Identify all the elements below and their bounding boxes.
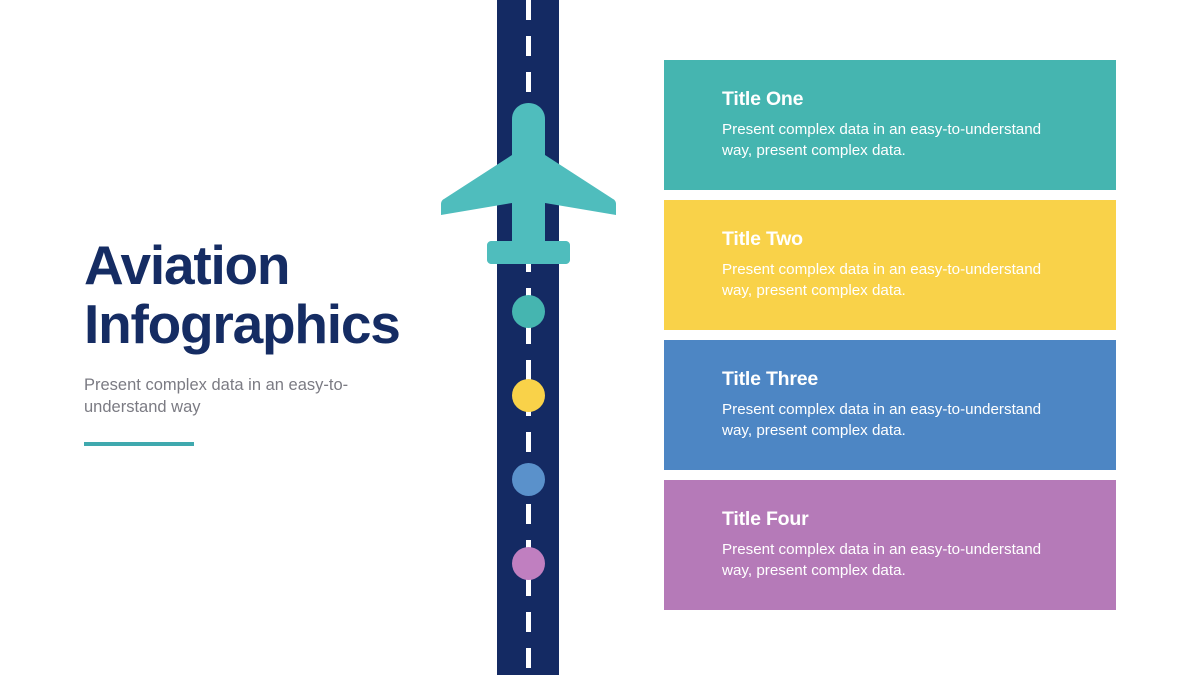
info-card-title: Title Two	[722, 228, 1080, 251]
airplane-icon	[441, 103, 616, 268]
info-card-4[interactable]: Title FourPresent complex data in an eas…	[664, 480, 1116, 610]
runway-dot-1	[512, 295, 545, 328]
page-subtitle: Present complex data in an easy-to-under…	[84, 355, 404, 419]
info-card-body: Present complex data in an easy-to-under…	[722, 120, 1072, 162]
runway-dot-4	[512, 547, 545, 580]
title-panel: Aviation Infographics Present complex da…	[84, 236, 424, 446]
runway-dot-2	[512, 379, 545, 412]
accent-rule	[84, 442, 194, 446]
info-card-title: Title One	[722, 88, 1080, 111]
card-list: Title OnePresent complex data in an easy…	[664, 60, 1116, 620]
info-card-1[interactable]: Title OnePresent complex data in an easy…	[664, 60, 1116, 190]
info-card-title: Title Three	[722, 368, 1080, 391]
info-card-body: Present complex data in an easy-to-under…	[722, 540, 1072, 582]
page-title: Aviation Infographics	[84, 236, 424, 355]
info-card-3[interactable]: Title ThreePresent complex data in an ea…	[664, 340, 1116, 470]
info-card-body: Present complex data in an easy-to-under…	[722, 260, 1072, 302]
info-card-body: Present complex data in an easy-to-under…	[722, 400, 1072, 442]
runway-dot-3	[512, 463, 545, 496]
info-card-2[interactable]: Title TwoPresent complex data in an easy…	[664, 200, 1116, 330]
info-card-title: Title Four	[722, 508, 1080, 531]
